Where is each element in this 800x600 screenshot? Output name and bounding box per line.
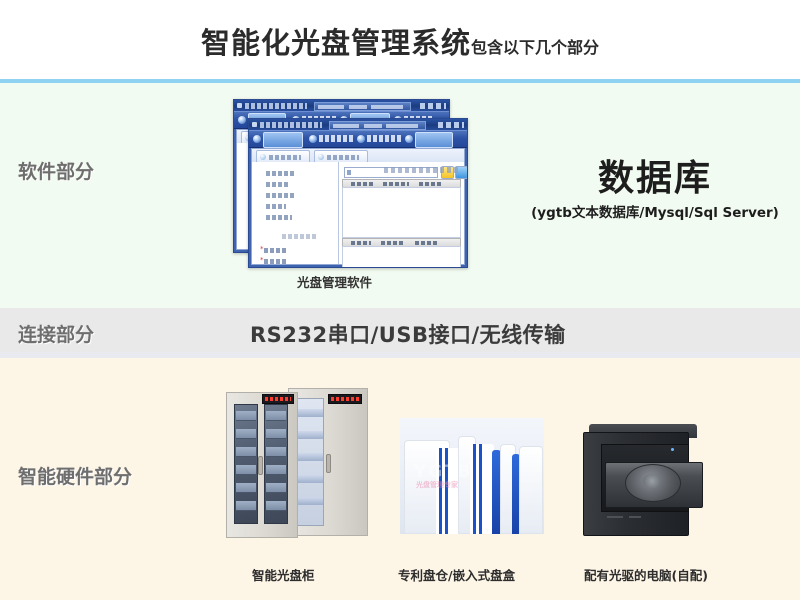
cabinet-left-glass-door-1 xyxy=(234,404,258,524)
power-led-icon xyxy=(671,448,674,451)
window-controls[interactable] xyxy=(438,122,464,128)
app-icon xyxy=(237,103,242,108)
watermark-text: YGTB xyxy=(414,462,473,482)
hardware-caption-computer: 配有光驱的电脑(自配) xyxy=(584,565,708,584)
page-header: 智能化光盘管理系统包含以下几个部分 xyxy=(0,0,800,79)
hardware-band-label: 智能硬件部分 xyxy=(18,462,132,489)
infographic-page: 智能化光盘管理系统包含以下几个部分 软件部分 xyxy=(0,0,800,600)
hardware-caption-cabinet: 智能光盘柜 xyxy=(252,565,315,584)
title-main-text: 智能化光盘管理系统 xyxy=(201,26,471,60)
toolbar-icon-2[interactable] xyxy=(309,135,317,143)
tree-item[interactable] xyxy=(266,204,286,209)
database-block: 数据库 (ygtb文本数据库/Mysql/Sql Server) xyxy=(520,160,790,221)
tab-1[interactable] xyxy=(256,150,310,162)
toolbar-button-1[interactable] xyxy=(263,132,303,148)
tray-white-4 xyxy=(519,446,543,534)
connection-band-label: 连接部分 xyxy=(18,320,94,347)
tree-item[interactable] xyxy=(266,215,292,220)
toolbar-icon-1[interactable] xyxy=(253,135,261,143)
tab-2[interactable] xyxy=(314,150,368,162)
database-title: 数据库 xyxy=(520,160,790,198)
cabinet-left-led-display xyxy=(262,394,294,404)
left-form-pane: * * xyxy=(252,162,339,264)
cabinet-left-glass-door-2 xyxy=(264,404,288,524)
window-title-text xyxy=(245,103,307,109)
form-row-required-1: * xyxy=(258,246,336,254)
cabinet-photo xyxy=(216,382,376,548)
toolbar-icon-1[interactable] xyxy=(238,116,246,124)
upper-table-body[interactable] xyxy=(342,187,461,238)
window-title-bar xyxy=(249,119,467,130)
connection-text: RS232串口/USB接口/无线传输 xyxy=(250,319,566,349)
software-caption: 光盘管理软件 xyxy=(297,272,372,291)
front-port-slot-1 xyxy=(607,516,623,518)
cabinet-left-handle[interactable] xyxy=(258,456,263,475)
toolbar-icon-3[interactable] xyxy=(357,135,365,143)
pane-hint-text xyxy=(282,234,316,239)
tree-item[interactable] xyxy=(266,182,290,187)
tree-item[interactable] xyxy=(266,193,294,198)
disc-magazine-photo: YGTB 光盘管理专家 xyxy=(400,418,544,534)
title-sub-text: 包含以下几个部分 xyxy=(471,38,599,57)
right-content-pane xyxy=(339,162,464,264)
cabinet-right-handle[interactable] xyxy=(326,454,331,473)
toolbar-button-4[interactable] xyxy=(415,132,453,148)
window-content: * * xyxy=(251,148,465,265)
tab-strip xyxy=(252,149,464,163)
toolbar-button-2[interactable] xyxy=(319,135,353,142)
database-subtitle: (ygtb文本数据库/Mysql/Sql Server) xyxy=(520,201,790,221)
toolbar-icon-4[interactable] xyxy=(405,135,413,143)
page-title: 智能化光盘管理系统包含以下几个部分 xyxy=(0,20,800,62)
app-icon xyxy=(252,122,257,127)
hardware-caption-magazine: 专利盘仓/嵌入式盘盒 xyxy=(398,565,515,584)
disc-spindle-hub xyxy=(643,474,661,488)
search-hint-text xyxy=(384,167,460,173)
toolbar-button-3[interactable] xyxy=(367,135,401,142)
watermark-subtext: 光盘管理专家 xyxy=(416,480,458,490)
cabinet-right-led-display xyxy=(328,394,362,404)
window-controls[interactable] xyxy=(420,103,446,109)
software-screenshot-front-window: * * xyxy=(248,118,468,268)
window-title-text xyxy=(260,122,322,128)
window-toolbar xyxy=(249,130,467,148)
front-port-slot-2 xyxy=(629,516,641,518)
tray-striped-2 xyxy=(470,444,494,534)
software-band-label: 软件部分 xyxy=(18,157,94,184)
window-title-bar xyxy=(234,100,449,111)
tree-item[interactable] xyxy=(266,171,294,176)
title-bar-search-group xyxy=(329,121,426,130)
title-bar-search-group xyxy=(314,102,411,111)
computer-photo xyxy=(575,418,721,536)
form-row-required-2: * xyxy=(258,257,336,265)
lower-table-body[interactable] xyxy=(342,246,461,268)
